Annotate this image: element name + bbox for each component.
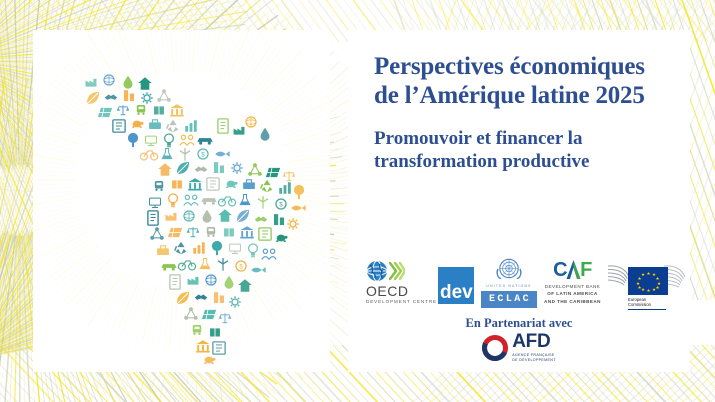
cover-page: $$$ Perspectives économiques de l’Amériq… xyxy=(0,0,715,402)
eu-caption-line-2: Commission xyxy=(628,302,651,307)
page-title: Perspectives économiques de l’Amérique l… xyxy=(374,52,686,110)
european-commission-caption: European Commission xyxy=(628,297,666,308)
european-commission-logo: ★ ★ ★ ★ ★ ★ ★ ★ ★ ★ ★ ★ European xyxy=(608,260,686,304)
chevron-trio-icon xyxy=(389,261,405,281)
eclac-un-logo: UNITED NATIONS ECLAC xyxy=(481,256,537,308)
svg-text:$: $ xyxy=(279,202,283,209)
partner-label: En Partenariat avec xyxy=(348,316,690,331)
oecd-wordmark: OECD xyxy=(366,284,408,298)
oecd-tagline: DEVELOPMENT CENTRE xyxy=(366,300,437,305)
page-subtitle-line-2: transformation productive xyxy=(374,151,590,172)
svg-text:$: $ xyxy=(201,152,205,159)
partner-logo-row: OECD DEVELOPMENT CENTRE dev UNITED NATIO… xyxy=(366,252,686,312)
oecd-development-centre-logo: OECD DEVELOPMENT CENTRE dev xyxy=(366,260,474,305)
title-block: Perspectives économiques de l’Amérique l… xyxy=(374,52,686,173)
eu-underline xyxy=(628,309,666,310)
afd-tagline-line-2: DE DÉVELOPPEMENT xyxy=(512,358,556,362)
eu-flag-icon: ★ ★ ★ ★ ★ ★ ★ ★ ★ ★ ★ ★ xyxy=(628,267,668,295)
afd-tagline: AGENCE FRANÇAISE DE DÉVELOPPEMENT xyxy=(512,353,556,364)
caf-tagline-line-1: DEVELOPMENT BANK xyxy=(545,284,601,289)
caf-tagline-line-2: OF LATIN AMERICA xyxy=(547,291,598,296)
page-subtitle-line-1: Promouvoir et financer la xyxy=(374,128,582,149)
latin-america-icon-map: $$$ xyxy=(33,30,330,372)
globe-icon xyxy=(366,260,388,282)
united-nations-emblem-icon xyxy=(494,256,524,283)
caf-letter-c: C xyxy=(553,260,567,280)
caf-tagline-line-3: AND THE CARIBBEAN xyxy=(544,299,601,304)
afd-wordmark: AFD xyxy=(512,332,550,351)
afd-logo: AFD AGENCE FRANÇAISE DE DÉVELOPPEMENT xyxy=(348,332,690,364)
eu-caption-line-1: European xyxy=(628,297,646,302)
eclac-wordmark: ECLAC xyxy=(481,291,537,308)
caf-logo: C F DEVELOPMENT BANK OF LATIN AMERICA AN… xyxy=(544,259,601,304)
page-title-line-1: Perspectives économiques xyxy=(374,53,645,80)
page-subtitle: Promouvoir et financer la transformation… xyxy=(374,127,686,173)
dev-badge: dev xyxy=(438,267,474,304)
caf-letter-f: F xyxy=(580,260,592,280)
afd-ring-icon xyxy=(482,335,508,361)
afd-tagline-line-1: AGENCE FRANÇAISE xyxy=(512,353,554,357)
caf-a-swoosh-icon xyxy=(566,259,581,280)
united-nations-caption: UNITED NATIONS xyxy=(486,284,531,288)
caf-wordmark: C F xyxy=(553,259,592,280)
page-title-line-2: de l’Amérique latine 2025 xyxy=(374,82,645,109)
caf-tagline: DEVELOPMENT BANK OF LATIN AMERICA AND TH… xyxy=(544,283,601,304)
svg-text:$: $ xyxy=(239,264,243,271)
